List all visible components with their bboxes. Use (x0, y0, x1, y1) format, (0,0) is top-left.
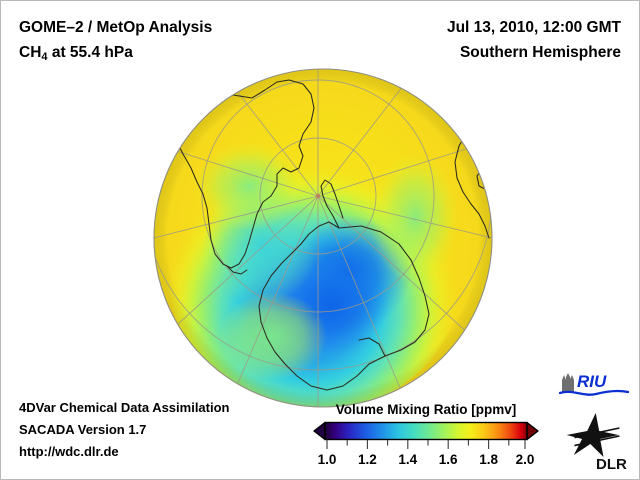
colorbar-tick-label: 1.4 (398, 452, 417, 467)
dlr-mark (566, 413, 622, 457)
dlr-star (566, 413, 622, 457)
colorbar-tick-label: 2.0 (516, 452, 535, 467)
colorbar-tick-label: 1.0 (318, 452, 337, 467)
timestamp-label: Jul 13, 2010, 12:00 GMT (447, 15, 621, 40)
figure-title: GOME–2 / MetOp Analysis CH4 at 55.4 hPa (19, 15, 212, 70)
colorbar-tick-label: 1.2 (358, 452, 377, 467)
data-field (153, 68, 492, 408)
region-label: Southern Hemisphere (447, 40, 621, 65)
figure-meta: Jul 13, 2010, 12:00 GMT Southern Hemisph… (447, 15, 621, 65)
riu-wave (560, 391, 628, 395)
dlr-wordmark: DLR (596, 456, 627, 471)
globe-map (153, 68, 493, 408)
credit-line-2: SACADA Version 1.7 (19, 419, 230, 441)
credit-line-3: http://wdc.dlr.de (19, 441, 230, 463)
title-line-1: GOME–2 / MetOp Analysis (19, 15, 212, 40)
orthographic-projection (153, 68, 493, 408)
title-line-2: CH4 at 55.4 hPa (19, 40, 212, 70)
colorbar-tick-labels: 1.0 1.2 1.4 1.6 1.8 2.0 (312, 452, 540, 470)
dlr-logo: DLR (566, 411, 628, 471)
colorbar-under-arrow (314, 423, 325, 440)
riu-mark (562, 373, 574, 392)
colorbar-tick-label: 1.6 (439, 452, 458, 467)
colorbar-ticks (327, 440, 525, 449)
pressure-level: at 55.4 hPa (48, 44, 133, 61)
south-pole-marker (316, 194, 320, 198)
colorbar-scale (312, 421, 540, 451)
limb-shading (154, 69, 492, 407)
figure-canvas: GOME–2 / MetOp Analysis CH4 at 55.4 hPa … (0, 0, 640, 480)
credit-line-1: 4DVar Chemical Data Assimilation (19, 397, 230, 419)
credits-block: 4DVar Chemical Data Assimilation SACADA … (19, 397, 230, 463)
colorbar-over-arrow (527, 423, 538, 440)
species-prefix: CH (19, 44, 41, 61)
colorbar-gradient (325, 423, 527, 440)
riu-logo: RIU (558, 370, 630, 400)
colorbar-tick-label: 1.8 (479, 452, 498, 467)
riu-wordmark: RIU (577, 372, 607, 391)
colorbar: Volume Mixing Ratio [ppmv] (312, 402, 540, 470)
colorbar-title: Volume Mixing Ratio [ppmv] (312, 402, 540, 417)
